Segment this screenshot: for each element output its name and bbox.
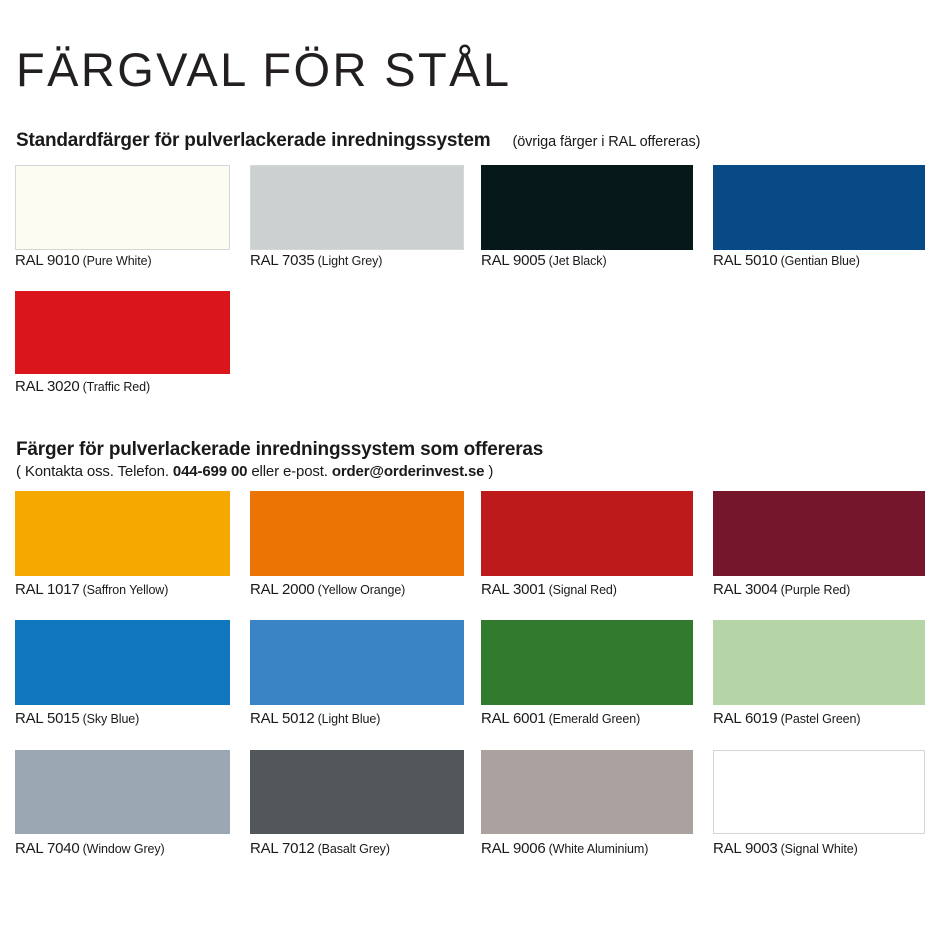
color-chip — [15, 750, 230, 834]
swatch-code: RAL 5010 — [713, 252, 778, 269]
color-chip — [250, 620, 464, 705]
swatch-code: RAL 6001 — [481, 710, 546, 727]
swatch-code: RAL 7040 — [15, 840, 80, 857]
color-chip — [250, 165, 464, 250]
swatch-color-name: (Emerald Green) — [549, 712, 641, 726]
swatch-label: RAL 9010(Pure White) — [15, 252, 152, 270]
color-swatch-ral-6001[interactable] — [481, 620, 693, 705]
color-swatch-ral-3020[interactable] — [15, 291, 230, 374]
swatch-code: RAL 3020 — [15, 378, 80, 395]
color-chip — [481, 165, 693, 250]
swatch-color-name: (Purple Red) — [781, 583, 851, 597]
color-chip — [713, 491, 925, 576]
contact-suffix: ) — [488, 463, 493, 480]
section-heading-standard-note: (övriga färger i RAL offereras) — [512, 134, 700, 150]
color-swatch-ral-7035[interactable] — [250, 165, 464, 250]
color-swatch-ral-5015[interactable] — [15, 620, 230, 705]
swatch-code: RAL 5012 — [250, 710, 315, 727]
color-chip — [250, 491, 464, 576]
contact-line: ( Kontakta oss. Telefon. 044-699 00 elle… — [16, 462, 493, 482]
swatch-code: RAL 9010 — [15, 252, 80, 269]
swatch-code: RAL 1017 — [15, 581, 80, 598]
swatch-color-name: (Sky Blue) — [83, 712, 140, 726]
swatch-color-name: (Pastel Green) — [781, 712, 861, 726]
section-heading-offered: Färger för pulverlackerade inredningssys… — [16, 439, 543, 462]
swatch-code: RAL 9003 — [713, 840, 778, 857]
swatch-label: RAL 3004(Purple Red) — [713, 581, 850, 599]
color-chip — [481, 620, 693, 705]
color-swatch-ral-9006[interactable] — [481, 750, 693, 834]
swatch-label: RAL 7035(Light Grey) — [250, 252, 382, 270]
swatch-color-name: (Window Grey) — [83, 842, 165, 856]
color-chip — [15, 291, 230, 374]
swatch-color-name: (Yellow Orange) — [318, 583, 406, 597]
swatch-label: RAL 7012(Basalt Grey) — [250, 840, 390, 858]
contact-phone: 044-699 00 — [173, 463, 247, 480]
color-chip — [481, 491, 693, 576]
color-chart-page: FÄRGVAL FÖR STÅL Standardfärger för pulv… — [0, 0, 940, 940]
swatch-code: RAL 9005 — [481, 252, 546, 269]
swatch-code: RAL 5015 — [15, 710, 80, 727]
color-chip — [713, 165, 925, 250]
contact-prefix: ( Kontakta oss. Telefon. — [16, 463, 169, 480]
section-heading-standard: Standardfärger för pulverlackerade inred… — [16, 130, 700, 153]
swatch-code: RAL 3004 — [713, 581, 778, 598]
swatch-color-name: (Light Grey) — [318, 254, 383, 268]
swatch-code: RAL 7012 — [250, 840, 315, 857]
color-swatch-ral-5012[interactable] — [250, 620, 464, 705]
color-chip — [713, 750, 925, 834]
swatch-color-name: (Gentian Blue) — [781, 254, 860, 268]
color-swatch-ral-1017[interactable] — [15, 491, 230, 576]
swatch-label: RAL 6001(Emerald Green) — [481, 710, 640, 728]
swatch-color-name: (Signal White) — [781, 842, 858, 856]
color-swatch-ral-2000[interactable] — [250, 491, 464, 576]
swatch-code: RAL 9006 — [481, 840, 546, 857]
color-swatch-ral-7040[interactable] — [15, 750, 230, 834]
color-chip — [713, 620, 925, 705]
swatch-label: RAL 5012(Light Blue) — [250, 710, 380, 728]
swatch-code: RAL 2000 — [250, 581, 315, 598]
color-swatch-ral-5010[interactable] — [713, 165, 925, 250]
color-swatch-ral-3001[interactable] — [481, 491, 693, 576]
swatch-label: RAL 6019(Pastel Green) — [713, 710, 860, 728]
swatch-label: RAL 7040(Window Grey) — [15, 840, 165, 858]
swatch-color-name: (Saffron Yellow) — [83, 583, 169, 597]
swatch-color-name: (Traffic Red) — [83, 380, 150, 394]
color-chip — [15, 491, 230, 576]
section-heading-standard-text: Standardfärger för pulverlackerade inred… — [16, 130, 490, 151]
swatch-label: RAL 2000(Yellow Orange) — [250, 581, 405, 599]
page-title: FÄRGVAL FÖR STÅL — [16, 42, 511, 98]
color-swatch-ral-7012[interactable] — [250, 750, 464, 834]
swatch-color-name: (Signal Red) — [549, 583, 617, 597]
swatch-label: RAL 9006(White Aluminium) — [481, 840, 648, 858]
color-chip — [15, 620, 230, 705]
swatch-code: RAL 6019 — [713, 710, 778, 727]
swatch-label: RAL 1017(Saffron Yellow) — [15, 581, 168, 599]
swatch-label: RAL 5015(Sky Blue) — [15, 710, 139, 728]
color-chip — [250, 750, 464, 834]
swatch-color-name: (Jet Black) — [549, 254, 607, 268]
color-chip — [481, 750, 693, 834]
section-heading-offered-text: Färger för pulverlackerade inredningssys… — [16, 439, 543, 460]
color-swatch-ral-9005[interactable] — [481, 165, 693, 250]
contact-middle: eller e-post. — [251, 463, 327, 480]
swatch-color-name: (White Aluminium) — [549, 842, 649, 856]
swatch-code: RAL 7035 — [250, 252, 315, 269]
contact-email[interactable]: order@orderinvest.se — [332, 463, 485, 480]
swatch-label: RAL 3020(Traffic Red) — [15, 378, 150, 396]
swatch-label: RAL 9005(Jet Black) — [481, 252, 607, 270]
swatch-label: RAL 9003(Signal White) — [713, 840, 858, 858]
color-swatch-ral-3004[interactable] — [713, 491, 925, 576]
swatch-color-name: (Basalt Grey) — [318, 842, 390, 856]
swatch-code: RAL 3001 — [481, 581, 546, 598]
swatch-label: RAL 3001(Signal Red) — [481, 581, 617, 599]
color-swatch-ral-9003[interactable] — [713, 750, 925, 834]
color-swatch-ral-9010[interactable] — [15, 165, 230, 250]
swatch-label: RAL 5010(Gentian Blue) — [713, 252, 860, 270]
swatch-color-name: (Pure White) — [83, 254, 152, 268]
color-swatch-ral-6019[interactable] — [713, 620, 925, 705]
color-chip — [15, 165, 230, 250]
swatch-color-name: (Light Blue) — [318, 712, 381, 726]
